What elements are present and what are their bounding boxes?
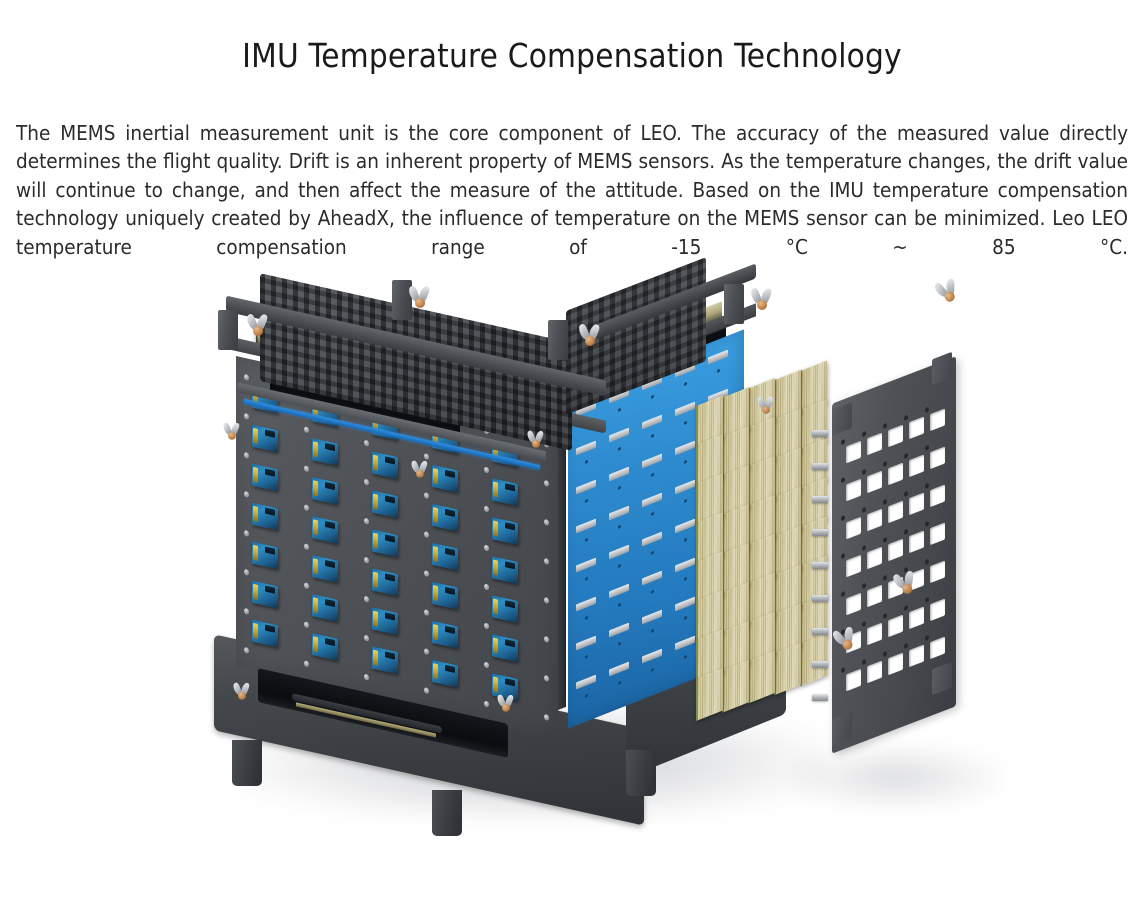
panel-screw <box>304 465 309 472</box>
pcb-pad <box>576 675 596 690</box>
pcb-via <box>618 486 621 489</box>
cover-plate-hole <box>883 461 887 468</box>
cover-plate-hole <box>841 591 845 598</box>
panel-screw <box>244 491 249 498</box>
wing-nut <box>758 397 774 416</box>
cover-plate-hole <box>925 407 929 414</box>
product-figure <box>0 272 1144 872</box>
pcb-via <box>651 473 654 476</box>
pcb-pad <box>675 519 695 534</box>
wing-nut-boss <box>532 440 540 448</box>
panel-screw <box>484 583 489 590</box>
pcb-pad <box>576 558 596 573</box>
pcb-via <box>585 538 588 541</box>
wing-nut-boss <box>585 336 595 346</box>
pcb-pad <box>708 350 728 365</box>
panel-screw <box>424 531 429 538</box>
cover-plate-hole <box>883 499 887 506</box>
pcb-via <box>684 616 687 619</box>
cover-plate-cutout <box>846 555 861 578</box>
panel-screw <box>244 452 249 459</box>
cover-plate-cutout <box>930 560 945 583</box>
cover-plate-cutout <box>867 661 882 684</box>
cover-plate-cutout <box>909 416 924 439</box>
pcb-via <box>684 655 687 658</box>
panel-screw <box>424 570 429 577</box>
page-root: IMU Temperature Compensation Technology … <box>0 0 1144 910</box>
pcb-pad <box>675 441 695 456</box>
cover-plate-cutout <box>909 454 924 477</box>
panel-screw <box>244 647 249 654</box>
pcb-pad <box>642 610 662 625</box>
pcb-via <box>585 577 588 580</box>
pcb-via <box>684 538 687 541</box>
pcb-pad <box>609 467 629 482</box>
pcb-via <box>651 629 654 632</box>
cover-plate-hole <box>904 453 908 460</box>
cover-plate-hole <box>904 415 908 422</box>
panel-screw <box>364 674 369 681</box>
panel-screw <box>364 440 369 447</box>
wing-nut <box>234 683 250 702</box>
cover-plate-hole <box>883 575 887 582</box>
pcb-via <box>585 655 588 658</box>
wing-nut <box>752 288 772 312</box>
pcb-pad <box>642 649 662 664</box>
top-corner-post <box>724 284 744 324</box>
panel-screw <box>544 714 549 721</box>
panel-screw <box>364 479 369 486</box>
panel-screw <box>244 569 249 576</box>
pcb-pad <box>642 415 662 430</box>
cover-plate-hole <box>883 651 887 658</box>
cover-plate-hole <box>841 515 845 522</box>
pcb-via <box>585 499 588 502</box>
cover-plate-tab <box>832 712 852 746</box>
gold-pcb-card <box>800 633 827 686</box>
panel-screw <box>244 530 249 537</box>
pcb-via <box>618 408 621 411</box>
cover-plate-hole <box>841 439 845 446</box>
cover-plate-hole <box>841 477 845 484</box>
gold-pcb-card <box>722 660 749 713</box>
cover-plate-cutout <box>909 530 924 553</box>
cover-plate-cutout <box>909 606 924 629</box>
cover-plate-hole <box>862 469 866 476</box>
panel-screw <box>424 687 429 694</box>
top-corner-post <box>548 320 568 360</box>
panel-screw <box>304 543 309 550</box>
cover-plate-cutout <box>888 425 903 448</box>
wing-nut <box>934 277 961 306</box>
pcb-pad <box>642 493 662 508</box>
cover-plate-hole <box>841 553 845 560</box>
panel-screw <box>544 597 549 604</box>
cover-plate-cutout <box>930 408 945 431</box>
wing-nut-boss <box>757 300 767 310</box>
pcb-pad <box>675 597 695 612</box>
pcb-pad <box>576 636 596 651</box>
cover-plate-cutout <box>846 517 861 540</box>
cover-plate-hole <box>904 643 908 650</box>
panel-screw <box>544 558 549 565</box>
cover-plate-cutout <box>888 653 903 676</box>
pcb-pad <box>576 480 596 495</box>
body-paragraph: The MEMS inertial measurement unit is th… <box>16 119 1128 290</box>
pcb-via <box>684 460 687 463</box>
page-title: IMU Temperature Compensation Technology <box>0 36 1144 76</box>
panel-screw <box>304 582 309 589</box>
cover-plate-cutout <box>888 615 903 638</box>
pcb-pad <box>609 545 629 560</box>
cover-plate-hole <box>925 597 929 604</box>
wing-nut-boss <box>228 432 236 440</box>
panel-screw <box>244 413 249 420</box>
cover-plate-hole <box>925 521 929 528</box>
cover-plate-cutout <box>930 484 945 507</box>
cover-plate-hole <box>904 491 908 498</box>
pcb-via <box>618 603 621 606</box>
base-foot <box>432 790 462 836</box>
cover-plate-hole <box>862 583 866 590</box>
cover-plate-hole <box>904 605 908 612</box>
base-foot <box>626 750 656 796</box>
pcb-via <box>618 447 621 450</box>
pcb-via <box>585 616 588 619</box>
wing-nut <box>248 314 268 338</box>
cover-plate-hole <box>883 613 887 620</box>
base-foot <box>232 740 262 786</box>
cover-plate-hole <box>904 529 908 536</box>
wing-nut-boss <box>943 290 956 303</box>
cover-plate-cutout <box>867 471 882 494</box>
panel-screw <box>424 609 429 616</box>
pcb-via <box>684 421 687 424</box>
cover-plate-hole <box>862 545 866 552</box>
pcb-via <box>651 668 654 671</box>
panel-screw <box>484 661 489 668</box>
panel-screw <box>304 621 309 628</box>
pcb-pad <box>675 402 695 417</box>
pcb-pad <box>642 454 662 469</box>
pcb-pad <box>609 662 629 677</box>
panel-screw <box>544 636 549 643</box>
cover-plate-tab <box>932 662 952 696</box>
panel-screw <box>304 660 309 667</box>
cover-plate-hole <box>862 621 866 628</box>
wing-nut <box>580 324 600 348</box>
cover-plate-hole <box>862 659 866 666</box>
mounting-stud <box>812 628 828 635</box>
pcb-via <box>651 395 654 398</box>
pcb-pad <box>642 571 662 586</box>
cover-plate-cutout <box>867 433 882 456</box>
cover-plate-hole <box>925 483 929 490</box>
cover-plate-tab <box>932 352 952 386</box>
cover-plate-cutout <box>930 636 945 659</box>
cover-plate-cutout <box>888 463 903 486</box>
cover-plate-cutout <box>846 593 861 616</box>
detached-cover-plate <box>832 356 956 754</box>
panel-screw <box>484 466 489 473</box>
cover-plate-cutout <box>867 585 882 608</box>
wing-nut <box>498 695 514 714</box>
top-corner-post <box>218 310 238 350</box>
panel-screw <box>484 544 489 551</box>
pcb-via <box>684 577 687 580</box>
wing-nut <box>528 431 544 450</box>
panel-screw <box>544 480 549 487</box>
mounting-stud <box>812 694 828 701</box>
cover-plate-cutout <box>867 623 882 646</box>
mounting-stud <box>812 430 828 437</box>
pcb-via <box>618 642 621 645</box>
pcb-pad <box>609 506 629 521</box>
pcb-pad <box>609 623 629 638</box>
panel-screw <box>364 596 369 603</box>
pcb-via <box>684 499 687 502</box>
pcb-pad <box>675 480 695 495</box>
mounting-stud <box>812 562 828 569</box>
pcb-pad <box>609 584 629 599</box>
pcb-via <box>585 460 588 463</box>
pcb-via <box>651 434 654 437</box>
cover-plate-hole <box>841 667 845 674</box>
gold-pcb-card <box>774 642 801 695</box>
wing-nut-boss <box>253 326 263 336</box>
panel-screw <box>364 635 369 642</box>
panel-screw <box>364 557 369 564</box>
panel-screw <box>304 426 309 433</box>
panel-screw <box>484 622 489 629</box>
pcb-via <box>618 525 621 528</box>
cover-plate-cutout <box>930 598 945 621</box>
wing-nut-boss <box>238 692 246 700</box>
cover-plate-cutout <box>909 492 924 515</box>
pcb-via <box>651 512 654 515</box>
pcb-via <box>585 694 588 697</box>
cover-plate-hole <box>925 635 929 642</box>
cover-plate-cutout <box>909 644 924 667</box>
cover-plate-shadow <box>786 742 1006 812</box>
pcb-pad <box>642 532 662 547</box>
panel-screw <box>304 504 309 511</box>
panel-screw <box>484 700 489 707</box>
panel-screw <box>484 505 489 512</box>
pcb-pad <box>609 428 629 443</box>
pcb-via <box>651 590 654 593</box>
cover-plate-cutout <box>846 479 861 502</box>
pcb-pad <box>675 558 695 573</box>
cover-plate-cutout <box>867 509 882 532</box>
cover-plate-hole <box>925 559 929 566</box>
wing-nut-boss <box>415 298 425 308</box>
pcb-via <box>717 369 720 372</box>
wing-nut-boss <box>762 406 770 414</box>
wing-nut-boss <box>502 704 510 712</box>
wing-nut <box>412 461 428 480</box>
pcb-via <box>618 681 621 684</box>
panel-screw <box>424 453 429 460</box>
cover-plate-hole <box>883 423 887 430</box>
product-render-scene <box>196 272 976 852</box>
panel-screw <box>544 519 549 526</box>
cover-plate-hole <box>925 445 929 452</box>
cover-plate-cutout <box>888 501 903 524</box>
mounting-stud <box>812 529 828 536</box>
mounting-stud <box>812 595 828 602</box>
cover-plate-cutout <box>930 446 945 469</box>
mounting-stud <box>812 496 828 503</box>
cover-plate-cutout <box>846 441 861 464</box>
cover-plate-cutout <box>930 522 945 545</box>
panel-screw <box>244 608 249 615</box>
top-corner-post <box>392 280 412 320</box>
pcb-pad <box>576 441 596 456</box>
panel-screw <box>424 492 429 499</box>
cover-plate-hole <box>862 431 866 438</box>
pcb-via <box>618 564 621 567</box>
cover-plate-hole <box>883 537 887 544</box>
pcb-pad <box>576 597 596 612</box>
cover-plate-hole <box>862 507 866 514</box>
panel-screw <box>544 675 549 682</box>
wing-nut <box>224 423 240 442</box>
panel-screw <box>244 374 249 381</box>
pcb-via <box>684 382 687 385</box>
wing-nut <box>410 286 430 310</box>
pcb-via <box>651 551 654 554</box>
pcb-pad <box>675 636 695 651</box>
cover-plate-cutout <box>867 547 882 570</box>
wing-nut-boss <box>416 470 424 478</box>
cover-plate-cutout <box>846 669 861 692</box>
mounting-stud <box>812 661 828 668</box>
mounting-stud <box>812 463 828 470</box>
panel-screw <box>424 648 429 655</box>
cover-plate-cutout <box>888 539 903 562</box>
panel-screw <box>364 518 369 525</box>
gold-pcb-card <box>696 668 723 721</box>
cover-plate-tab <box>832 402 852 436</box>
pcb-pad <box>576 519 596 534</box>
